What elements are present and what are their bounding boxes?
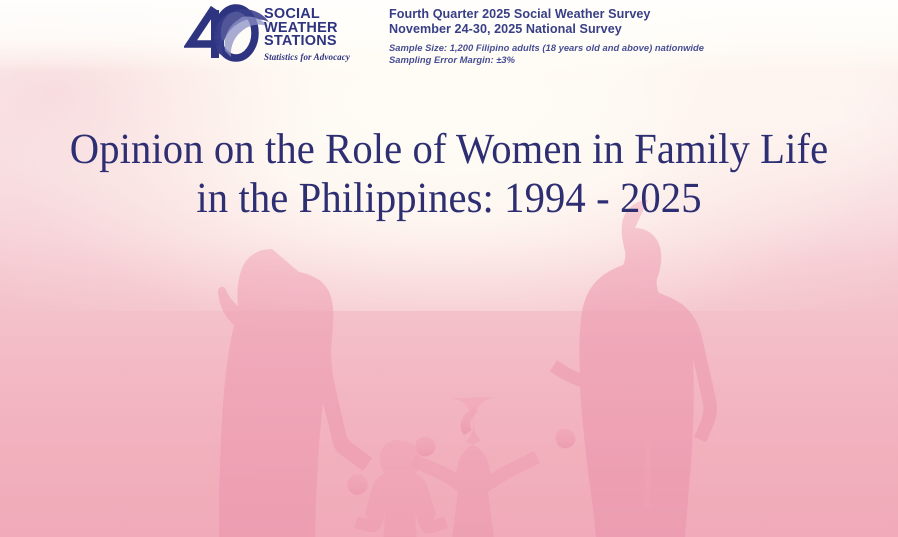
page-title-line-2: in the Philippines: 1994 - 2025 xyxy=(25,174,874,223)
page-title: Opinion on the Role of Women in Family L… xyxy=(25,125,874,223)
sws-logo[interactable]: 40 YEARS 1985 SOCIAL WEATHER STATIONS St… xyxy=(184,4,374,66)
survey-metadata: Fourth Quarter 2025 Social Weather Surve… xyxy=(389,7,704,66)
logo-name-line-3: STATIONS xyxy=(264,35,374,49)
sws-logo-wordmark: SOCIAL WEATHER STATIONS Statistics for A… xyxy=(264,8,374,63)
header-row: 40 YEARS 1985 SOCIAL WEATHER STATIONS St… xyxy=(0,0,898,72)
survey-title-card: 40 YEARS 1985 SOCIAL WEATHER STATIONS St… xyxy=(0,0,898,537)
survey-error-margin: Sampling Error Margin: ±3% xyxy=(389,54,704,66)
logo-tagline: Statistics for Advocacy xyxy=(264,51,374,63)
background-wash-bottom xyxy=(0,236,898,537)
sws-logo-mark-icon: 40 YEARS 1985 xyxy=(184,4,270,62)
survey-name-line-1: Fourth Quarter 2025 Social Weather Surve… xyxy=(389,7,704,22)
survey-sample-size: Sample Size: 1,200 Filipino adults (18 y… xyxy=(389,42,704,54)
survey-name-line-2: November 24-30, 2025 National Survey xyxy=(389,22,704,37)
page-title-line-1: Opinion on the Role of Women in Family L… xyxy=(25,125,874,174)
